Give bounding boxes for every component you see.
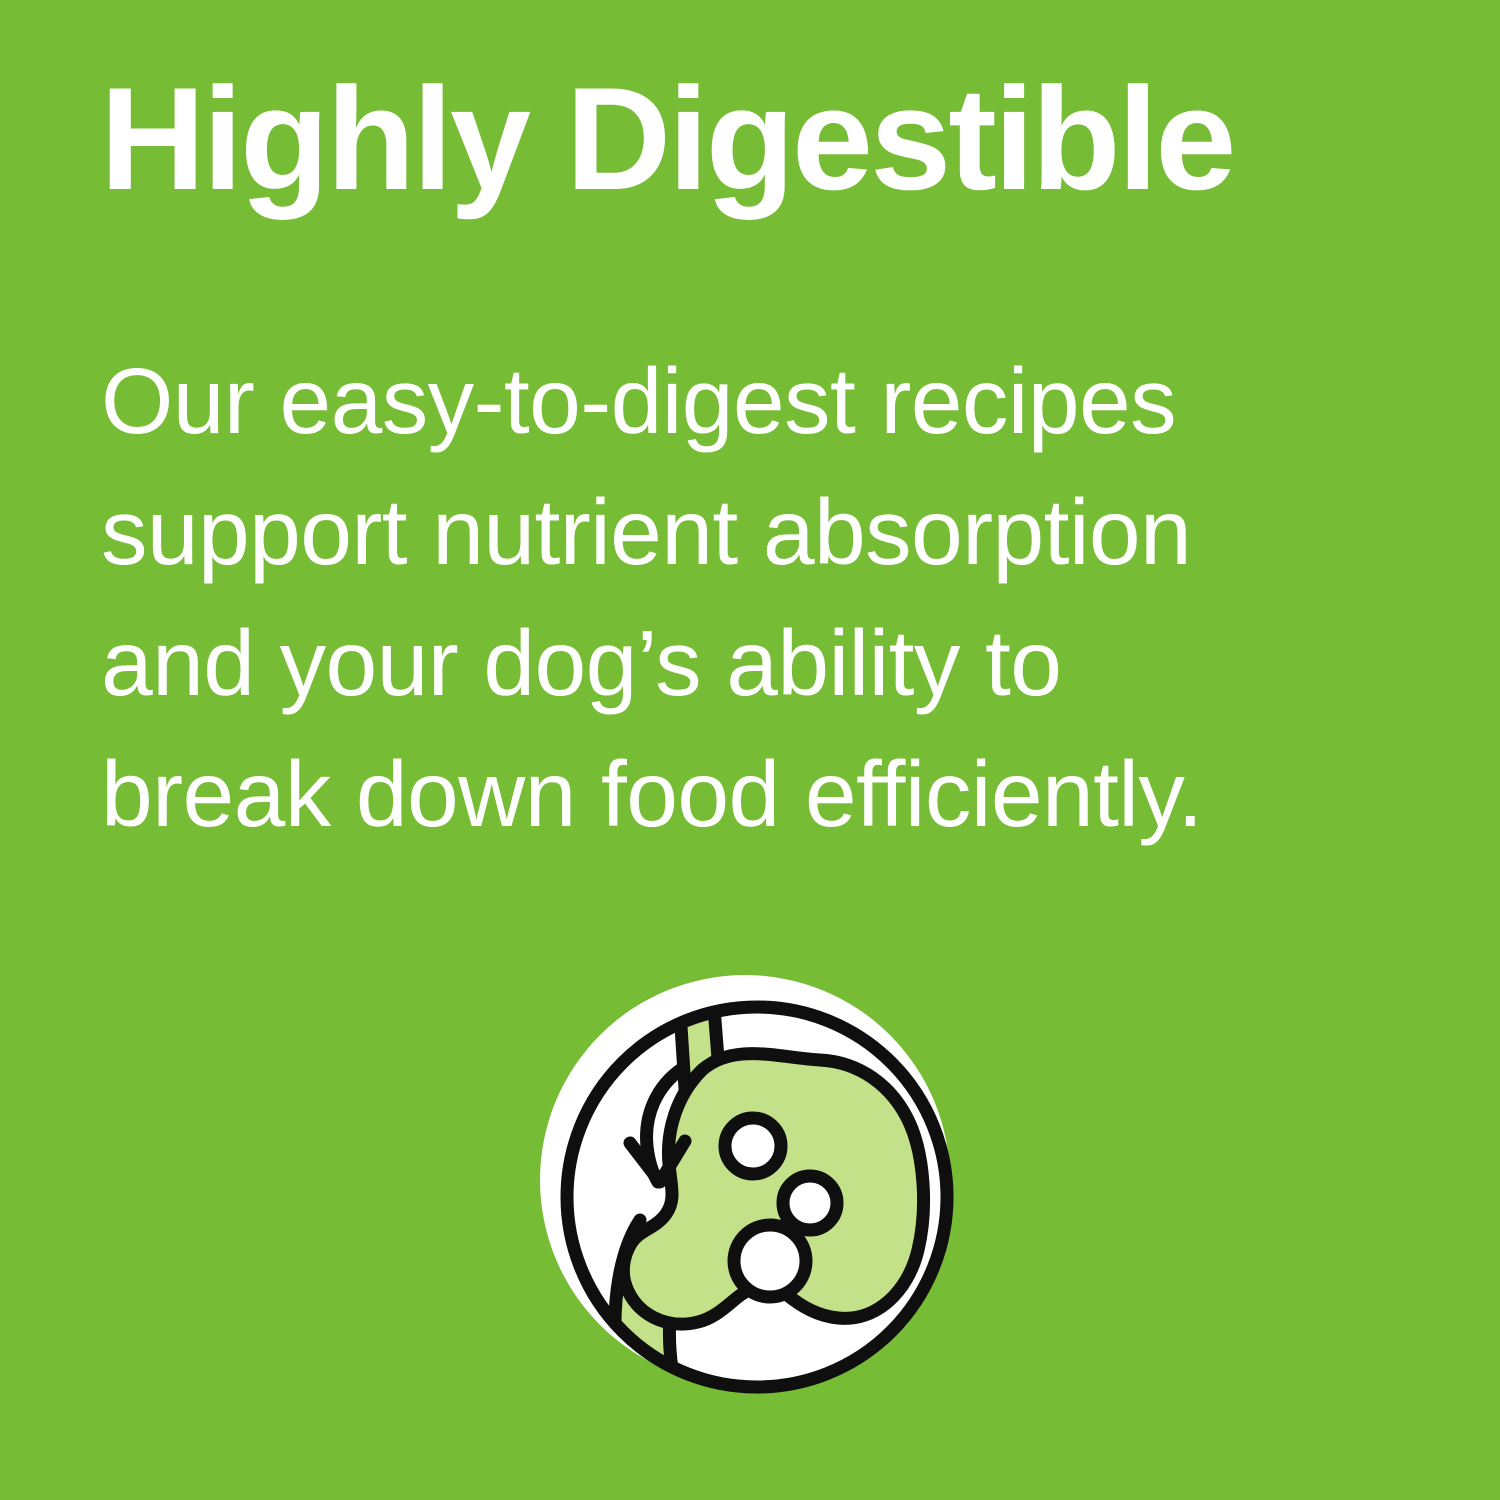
- bubble-middle: [783, 1176, 837, 1230]
- body-line-2: support nutrient absorption: [101, 467, 1431, 598]
- page-title: Highly Digestible: [100, 66, 1420, 212]
- bubble-top: [725, 1118, 781, 1174]
- body-line-1: Our easy-to-digest recipes: [101, 336, 1431, 467]
- body-line-4: break down food efficiently.: [101, 729, 1431, 860]
- promo-panel: Highly Digestible Our easy-to-digest rec…: [0, 0, 1500, 1500]
- body-copy: Our easy-to-digest recipes support nutri…: [101, 336, 1431, 860]
- bubble-bottom: [734, 1225, 806, 1297]
- stomach-digestion-icon: [480, 920, 1040, 1480]
- body-line-3: and your dog’s ability to: [101, 598, 1431, 729]
